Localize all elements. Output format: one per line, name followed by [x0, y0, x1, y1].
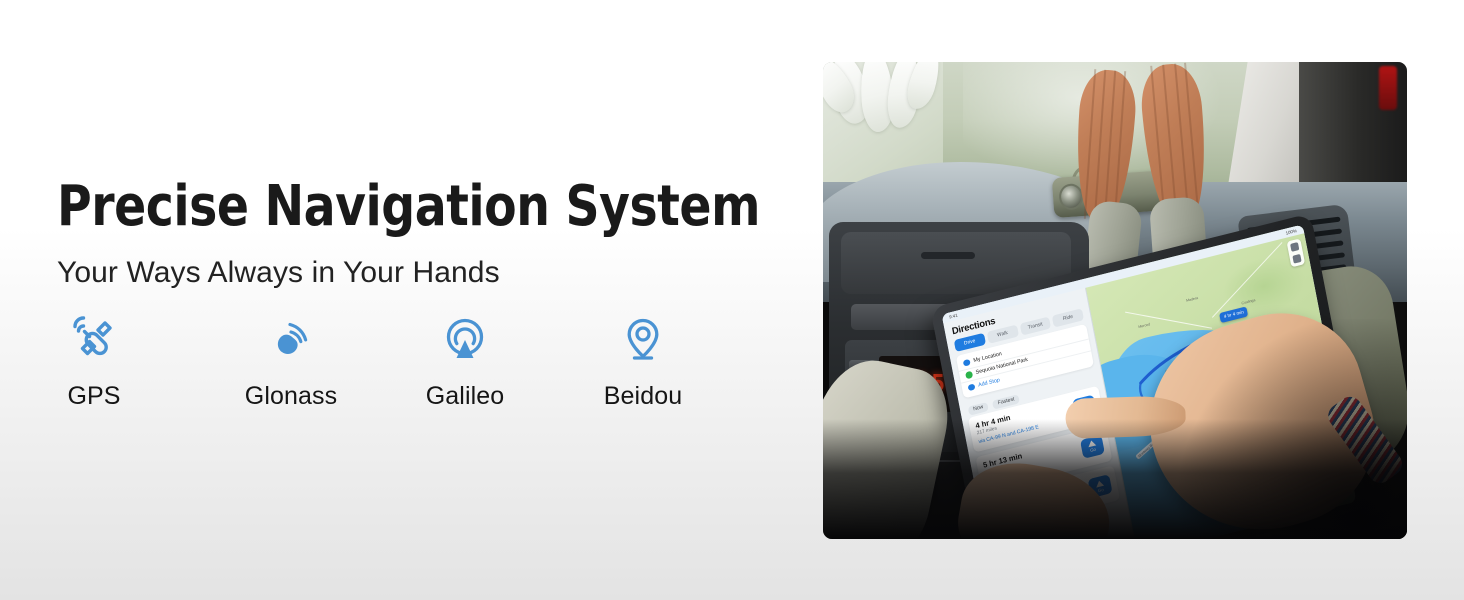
- map-layers-icon[interactable]: [1290, 242, 1299, 252]
- hero-photo: 15:42: [823, 62, 1407, 539]
- copy-block: Precise Navigation System Your Ways Alwa…: [57, 176, 777, 291]
- gnss-item-gps: GPS: [57, 312, 131, 411]
- map-locate-icon[interactable]: [1292, 254, 1301, 264]
- navigation-banner: Precise Navigation System Your Ways Alwa…: [0, 0, 1464, 600]
- origin-dot-icon: [963, 359, 971, 367]
- status-time: 9:41: [949, 313, 958, 320]
- gnss-feature-row: GPS Glonass: [57, 312, 689, 411]
- gnss-item-galileo: Galileo: [421, 312, 509, 411]
- map-pin-icon: [616, 312, 670, 368]
- gnss-label-galileo: Galileo: [426, 382, 505, 411]
- gnss-label-glonass: Glonass: [245, 382, 337, 411]
- gnss-label-beidou: Beidou: [604, 382, 682, 411]
- satellite-icon: [67, 312, 121, 368]
- gnss-item-glonass: Glonass: [239, 312, 343, 411]
- destination-dot-icon: [965, 371, 973, 379]
- add-stop-label: Add Stop: [978, 377, 1001, 388]
- gnss-item-beidou: Beidou: [597, 312, 689, 411]
- interior-shadow-right: [1177, 319, 1407, 539]
- beacon-icon: [438, 312, 492, 368]
- car-interior-scene: 15:42: [823, 62, 1407, 539]
- page-title: Precise Navigation System: [57, 176, 734, 238]
- door-trim-accent: [1379, 66, 1397, 110]
- console-slot: [921, 252, 975, 259]
- gnss-label-gps: GPS: [67, 382, 120, 411]
- globe-signal-icon: [264, 312, 318, 368]
- status-battery: 100%: [1285, 228, 1297, 236]
- page-subtitle: Your Ways Always in Your Hands: [57, 254, 777, 292]
- plus-icon: [967, 383, 975, 391]
